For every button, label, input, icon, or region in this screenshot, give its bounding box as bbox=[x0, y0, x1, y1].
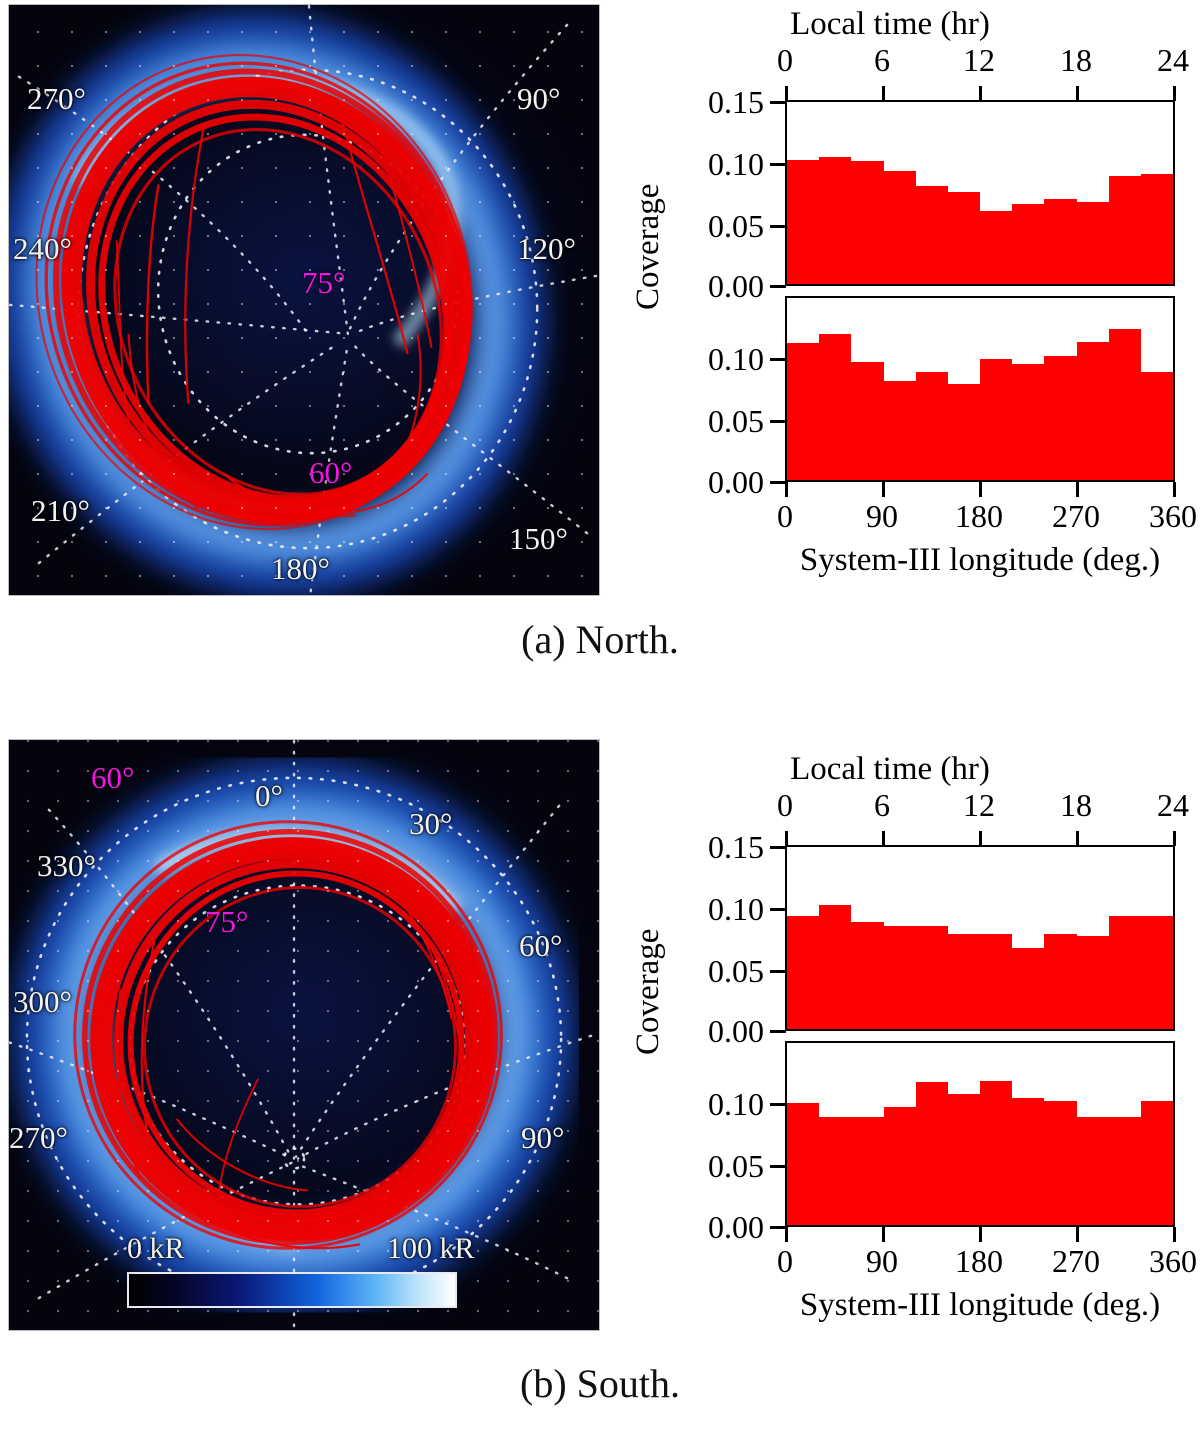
north-longitude-axes bbox=[785, 296, 1175, 482]
north-histogram-block: Local time (hr) Coverage 0 6 12 18 24 0.… bbox=[600, 0, 1200, 600]
south-histogram-block: Local time (hr) Coverage 0 6 12 18 24 0.… bbox=[600, 735, 1200, 1335]
bar bbox=[948, 192, 980, 284]
tick bbox=[1173, 482, 1176, 497]
north-lon-xtick-0: 0 bbox=[755, 498, 815, 535]
south-lon-xtick-0: 0 bbox=[755, 1243, 815, 1280]
tick bbox=[979, 1227, 982, 1242]
bar bbox=[1141, 916, 1173, 1029]
bar bbox=[884, 171, 916, 284]
bar bbox=[1077, 936, 1109, 1029]
south-caption: (b) South. bbox=[0, 1360, 1200, 1407]
tick bbox=[1076, 482, 1079, 497]
south-latitude-label-75: 75° bbox=[205, 906, 248, 937]
bar bbox=[1044, 356, 1076, 480]
intensity-colorbar bbox=[127, 1272, 457, 1308]
bar bbox=[1141, 1101, 1173, 1225]
north-lon-xtick-270: 270 bbox=[1036, 498, 1116, 535]
south-longitude-label-270: 270° bbox=[9, 1122, 68, 1153]
bar bbox=[851, 1117, 883, 1225]
bar bbox=[980, 211, 1012, 284]
tick bbox=[770, 358, 786, 361]
bar bbox=[787, 1103, 819, 1225]
bar bbox=[787, 160, 819, 284]
north-lt-ytick-010: 0.10 bbox=[660, 146, 764, 183]
bar bbox=[1109, 916, 1141, 1029]
south-lt-xtick-24: 24 bbox=[1143, 787, 1200, 824]
south-lon-xtick-360: 360 bbox=[1133, 1243, 1200, 1280]
south-lt-ytick-005: 0.05 bbox=[660, 953, 764, 990]
bar bbox=[884, 926, 916, 1029]
south-lt-xtick-0: 0 bbox=[755, 787, 815, 824]
tick bbox=[770, 285, 786, 288]
north-lon-xtick-90: 90 bbox=[846, 498, 918, 535]
tick bbox=[770, 1103, 786, 1106]
bar bbox=[980, 1081, 1012, 1225]
bar bbox=[1109, 329, 1141, 480]
south-lon-xtick-270: 270 bbox=[1036, 1243, 1116, 1280]
bar bbox=[1077, 342, 1109, 480]
bar bbox=[787, 916, 819, 1029]
north-longitude-xlabel: System-III longitude (deg.) bbox=[750, 542, 1200, 579]
north-latitude-label-60: 60° bbox=[309, 457, 352, 488]
bar bbox=[1012, 948, 1044, 1029]
south-longitude-axes bbox=[785, 1041, 1175, 1227]
south-lon-xtick-180: 180 bbox=[939, 1243, 1019, 1280]
tick bbox=[882, 1227, 885, 1242]
north-lon-ytick-005: 0.05 bbox=[660, 403, 764, 440]
tick bbox=[882, 86, 885, 101]
bar bbox=[851, 161, 883, 284]
north-caption: (a) North. bbox=[0, 616, 1200, 663]
bar bbox=[1077, 202, 1109, 285]
bar bbox=[948, 934, 980, 1029]
south-lon-ytick-010: 0.10 bbox=[660, 1086, 764, 1123]
north-lon-ytick-010: 0.10 bbox=[660, 341, 764, 378]
south-longitude-bars bbox=[787, 1043, 1173, 1225]
north-lt-xtick-6: 6 bbox=[852, 42, 912, 79]
north-longitude-label-180: 180° bbox=[271, 553, 330, 584]
bar bbox=[948, 1094, 980, 1225]
tick bbox=[770, 1030, 786, 1033]
north-latitude-label-75: 75° bbox=[302, 267, 345, 298]
south-local-time-axes bbox=[785, 845, 1175, 1031]
north-lt-xtick-24: 24 bbox=[1143, 42, 1200, 79]
bar bbox=[948, 384, 980, 480]
south-lt-ytick-000: 0.00 bbox=[660, 1013, 764, 1050]
bar bbox=[1044, 199, 1076, 284]
north-longitude-label-210: 210° bbox=[31, 495, 90, 526]
tick bbox=[785, 86, 788, 101]
south-polar-image: 0° 30° 330° 60° 300° 270° 90° 60° 75° 0 … bbox=[8, 739, 600, 1331]
bar bbox=[819, 157, 851, 284]
bar bbox=[916, 926, 948, 1029]
bar bbox=[980, 359, 1012, 480]
bar bbox=[916, 372, 948, 480]
tick bbox=[770, 101, 786, 104]
tick bbox=[1076, 1227, 1079, 1242]
tick bbox=[770, 163, 786, 166]
tick bbox=[882, 482, 885, 497]
south-longitude-label-60: 60° bbox=[519, 930, 562, 961]
south-longitude-xlabel: System-III longitude (deg.) bbox=[750, 1287, 1200, 1324]
bar bbox=[1012, 364, 1044, 480]
bar bbox=[884, 381, 916, 480]
bar bbox=[1109, 1117, 1141, 1225]
bar bbox=[1109, 176, 1141, 284]
panel-south: 0° 30° 330° 60° 300° 270° 90° 60° 75° 0 … bbox=[0, 735, 1200, 1435]
bar bbox=[819, 334, 851, 480]
tick bbox=[770, 970, 786, 973]
tick bbox=[770, 1165, 786, 1168]
north-lt-ytick-000: 0.00 bbox=[660, 268, 764, 305]
south-local-time-bars bbox=[787, 847, 1173, 1029]
north-longitude-label-270: 270° bbox=[27, 83, 86, 114]
bar bbox=[819, 1117, 851, 1225]
north-longitude-label-240: 240° bbox=[13, 233, 72, 264]
tick bbox=[785, 831, 788, 846]
north-lt-xtick-0: 0 bbox=[755, 42, 815, 79]
panel-north: 270° 90° 240° 120° 210° 150° 180° 75° 60… bbox=[0, 0, 1200, 700]
south-local-time-title: Local time (hr) bbox=[600, 751, 1180, 788]
north-local-time-title: Local time (hr) bbox=[600, 6, 1180, 43]
tick bbox=[770, 1226, 786, 1229]
bar bbox=[1012, 204, 1044, 284]
north-local-time-axes bbox=[785, 100, 1175, 286]
south-lon-ytick-000: 0.00 bbox=[660, 1209, 764, 1246]
tick bbox=[770, 481, 786, 484]
north-polar-image: 270° 90° 240° 120° 210° 150° 180° 75° 60… bbox=[8, 4, 600, 596]
bar bbox=[787, 343, 819, 480]
south-lt-ytick-015: 0.15 bbox=[660, 829, 764, 866]
tick bbox=[785, 1227, 788, 1242]
south-lt-xtick-6: 6 bbox=[852, 787, 912, 824]
south-point-grid bbox=[9, 740, 599, 1330]
south-lt-xtick-18: 18 bbox=[1046, 787, 1106, 824]
south-lt-ytick-010: 0.10 bbox=[660, 891, 764, 928]
tick bbox=[1173, 831, 1176, 846]
tick bbox=[882, 831, 885, 846]
north-longitude-label-150: 150° bbox=[509, 523, 568, 554]
north-longitude-label-90: 90° bbox=[517, 83, 560, 114]
colorbar-max-label: 100 kR bbox=[387, 1232, 475, 1266]
bar bbox=[1077, 1117, 1109, 1225]
tick bbox=[979, 86, 982, 101]
south-longitude-label-30: 30° bbox=[409, 808, 452, 839]
colorbar-min-label: 0 kR bbox=[127, 1232, 185, 1266]
tick bbox=[1173, 86, 1176, 101]
tick bbox=[979, 831, 982, 846]
north-lon-ytick-000: 0.00 bbox=[660, 464, 764, 501]
south-longitude-label-330: 330° bbox=[37, 850, 96, 881]
tick bbox=[785, 482, 788, 497]
south-longitude-label-0: 0° bbox=[255, 780, 283, 811]
south-longitude-label-300: 300° bbox=[13, 986, 72, 1017]
tick bbox=[1076, 86, 1079, 101]
north-lt-xtick-18: 18 bbox=[1046, 42, 1106, 79]
north-longitude-bars bbox=[787, 298, 1173, 480]
bar bbox=[916, 186, 948, 284]
bar bbox=[1012, 1098, 1044, 1225]
tick bbox=[770, 420, 786, 423]
north-lt-ytick-015: 0.15 bbox=[660, 84, 764, 121]
tick bbox=[979, 482, 982, 497]
north-point-grid bbox=[9, 5, 599, 595]
bar bbox=[819, 905, 851, 1029]
bar bbox=[884, 1107, 916, 1225]
figure-root: 270° 90° 240° 120° 210° 150° 180° 75° 60… bbox=[0, 0, 1200, 1435]
south-lon-ytick-005: 0.05 bbox=[660, 1148, 764, 1185]
north-longitude-label-120: 120° bbox=[517, 233, 576, 264]
south-lon-xtick-90: 90 bbox=[846, 1243, 918, 1280]
bar bbox=[851, 922, 883, 1029]
south-longitude-label-90: 90° bbox=[521, 1122, 564, 1153]
bar bbox=[916, 1082, 948, 1225]
bar bbox=[1044, 934, 1076, 1029]
north-local-time-bars bbox=[787, 102, 1173, 284]
bar bbox=[980, 934, 1012, 1029]
north-lt-ytick-005: 0.05 bbox=[660, 208, 764, 245]
north-lon-xtick-360: 360 bbox=[1133, 498, 1200, 535]
south-latitude-label-60: 60° bbox=[91, 762, 134, 793]
tick bbox=[770, 846, 786, 849]
bar bbox=[1141, 174, 1173, 284]
bar bbox=[1044, 1101, 1076, 1225]
tick bbox=[770, 225, 786, 228]
tick bbox=[1076, 831, 1079, 846]
bar bbox=[1141, 372, 1173, 480]
bar bbox=[851, 362, 883, 480]
tick bbox=[1173, 1227, 1176, 1242]
tick bbox=[770, 908, 786, 911]
north-lt-xtick-12: 12 bbox=[949, 42, 1009, 79]
north-lon-xtick-180: 180 bbox=[939, 498, 1019, 535]
south-lt-xtick-12: 12 bbox=[949, 787, 1009, 824]
